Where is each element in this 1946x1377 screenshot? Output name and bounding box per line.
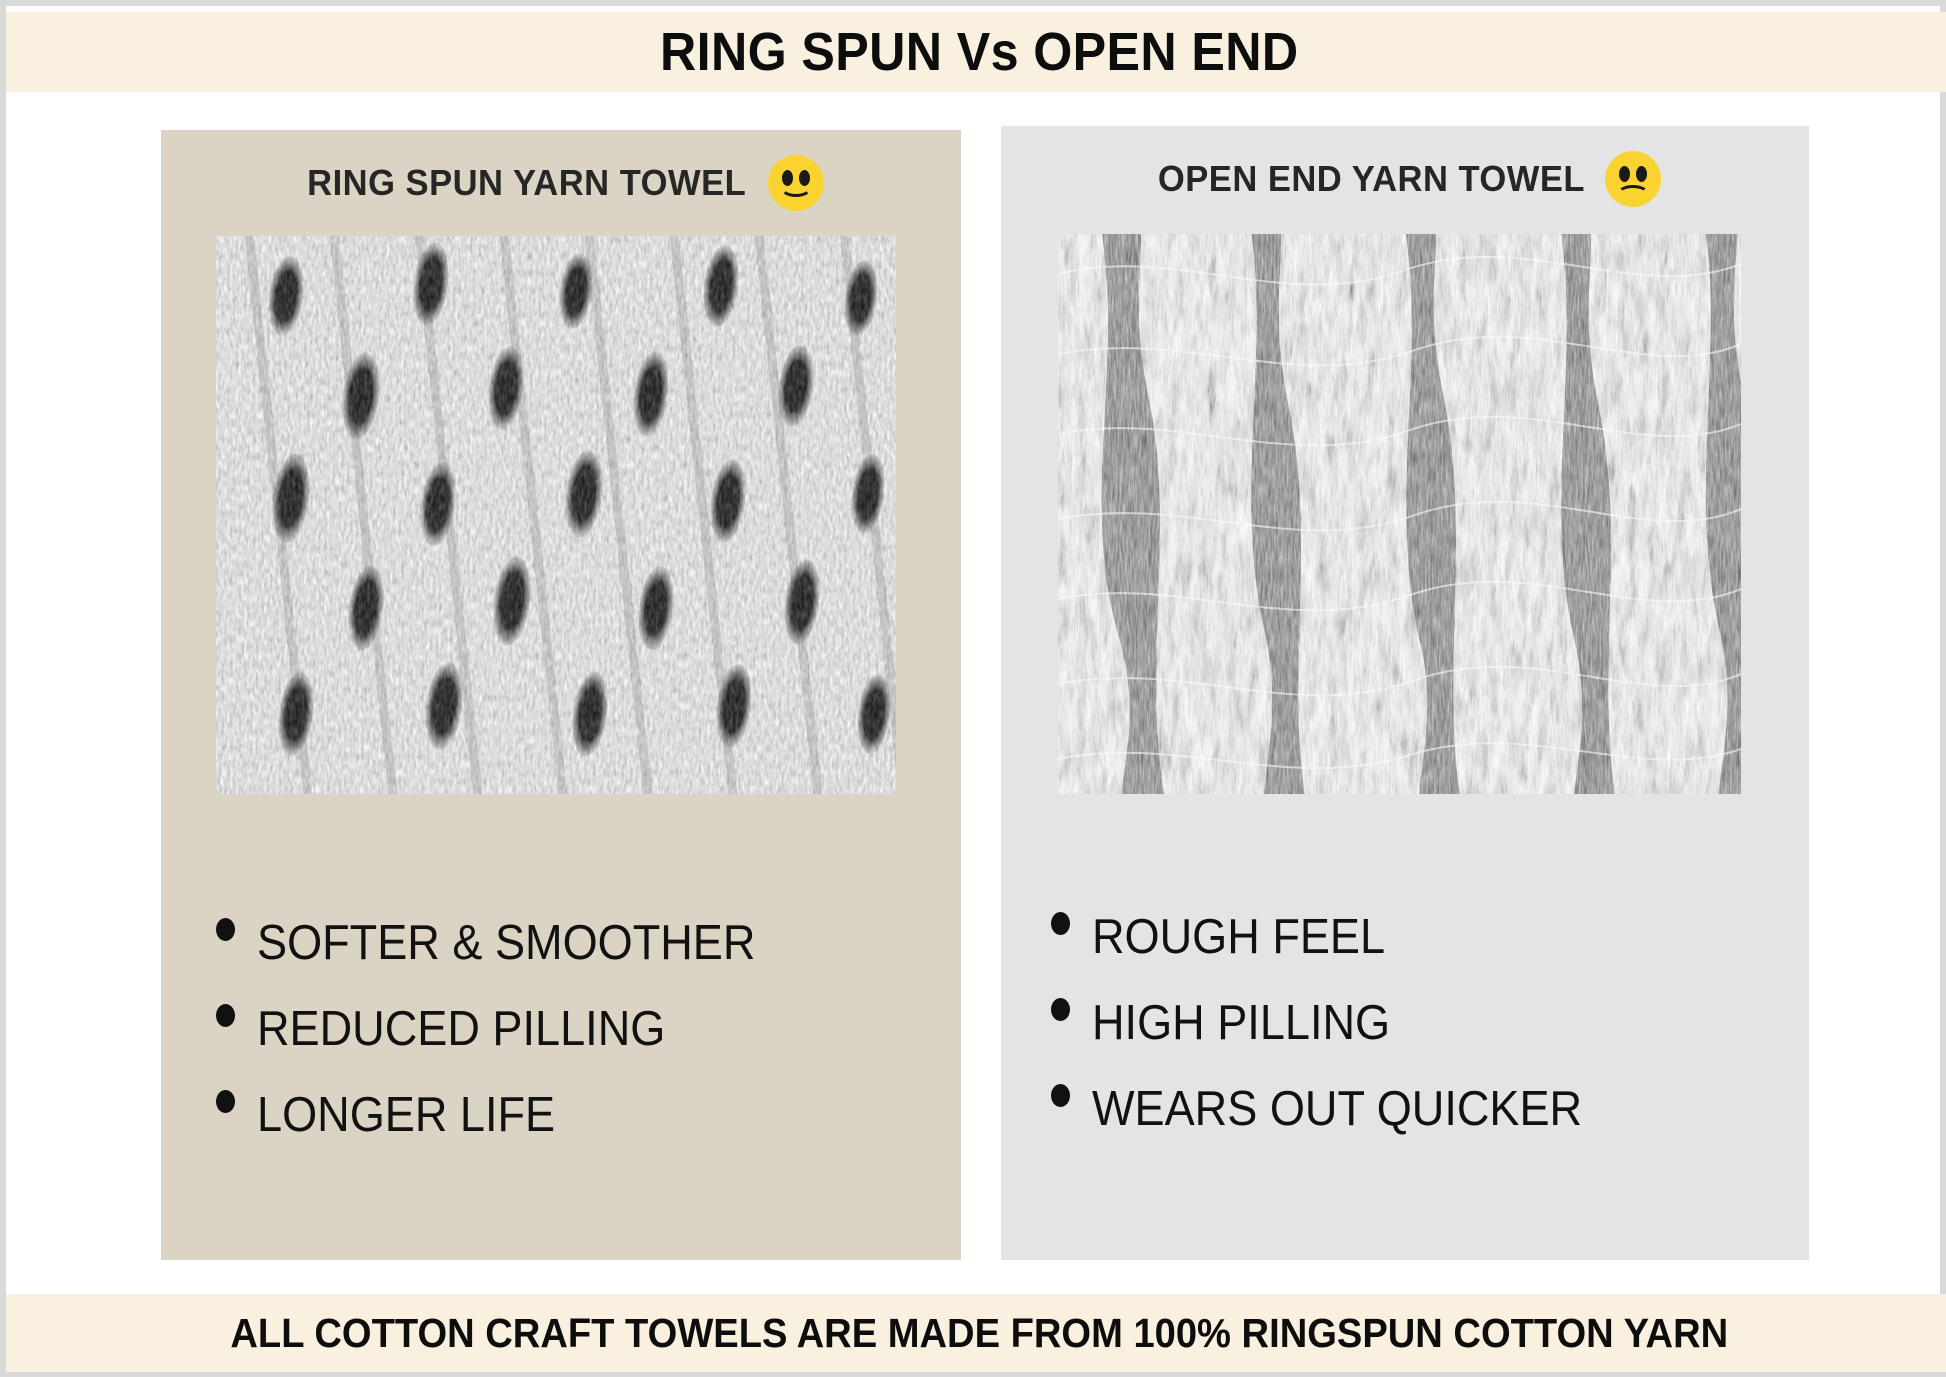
list-item: ROUGH FEEL [1051, 894, 1771, 980]
bullet-label: LONGER LIFE [257, 1087, 555, 1143]
panel-title-ring-spun: RING SPUN YARN TOWEL [307, 162, 746, 204]
sad-face-eye-left [1619, 166, 1630, 182]
bullet-dot-icon [1051, 912, 1070, 935]
bullet-dot-icon [1051, 998, 1070, 1021]
sad-face-mouth [1617, 185, 1649, 201]
bullet-dot-icon [216, 1004, 235, 1027]
bullet-label: SOFTER & SMOOTHER [257, 915, 755, 971]
bullet-dot-icon [216, 1090, 235, 1113]
bullet-dot-icon [216, 918, 235, 941]
open-end-texture-photo [1058, 234, 1741, 794]
page-title: RING SPUN Vs OPEN END [660, 21, 1298, 83]
happy-face-icon [768, 155, 824, 211]
bullet-label: WEARS OUT QUICKER [1092, 1081, 1582, 1137]
bullet-dot-icon [1051, 1084, 1070, 1107]
list-item: LONGER LIFE [216, 1072, 916, 1158]
poster-root: RING SPUN Vs OPEN END RING SPUN YARN TOW… [0, 0, 1946, 1377]
feature-list-ring-spun: SOFTER & SMOOTHER REDUCED PILLING LONGER… [216, 900, 916, 1158]
panel-title-open-end: OPEN END YARN TOWEL [1157, 158, 1584, 200]
bullet-label: ROUGH FEEL [1092, 909, 1385, 965]
list-item: REDUCED PILLING [216, 986, 916, 1072]
panel-header-open-end: OPEN END YARN TOWEL [1001, 144, 1809, 214]
happy-face-mouth [780, 181, 812, 197]
list-item: HIGH PILLING [1051, 980, 1771, 1066]
footer-note: ALL COTTON CRAFT TOWELS ARE MADE FROM 10… [230, 1310, 1728, 1357]
panel-open-end: OPEN END YARN TOWEL [1001, 126, 1809, 1260]
sad-face-icon [1605, 151, 1661, 207]
sad-face-eye-right [1636, 166, 1647, 182]
list-item: SOFTER & SMOOTHER [216, 900, 916, 986]
ring-spun-texture-photo [216, 236, 896, 794]
panel-header-ring-spun: RING SPUN YARN TOWEL [161, 148, 961, 218]
header-band: RING SPUN Vs OPEN END [6, 12, 1946, 92]
bullet-label: HIGH PILLING [1092, 995, 1390, 1051]
list-item: WEARS OUT QUICKER [1051, 1066, 1771, 1152]
panel-ring-spun: RING SPUN YARN TOWEL [161, 130, 961, 1260]
bullet-label: REDUCED PILLING [257, 1001, 665, 1057]
feature-list-open-end: ROUGH FEEL HIGH PILLING WEARS OUT QUICKE… [1051, 894, 1771, 1152]
footer-band: ALL COTTON CRAFT TOWELS ARE MADE FROM 10… [6, 1294, 1946, 1372]
